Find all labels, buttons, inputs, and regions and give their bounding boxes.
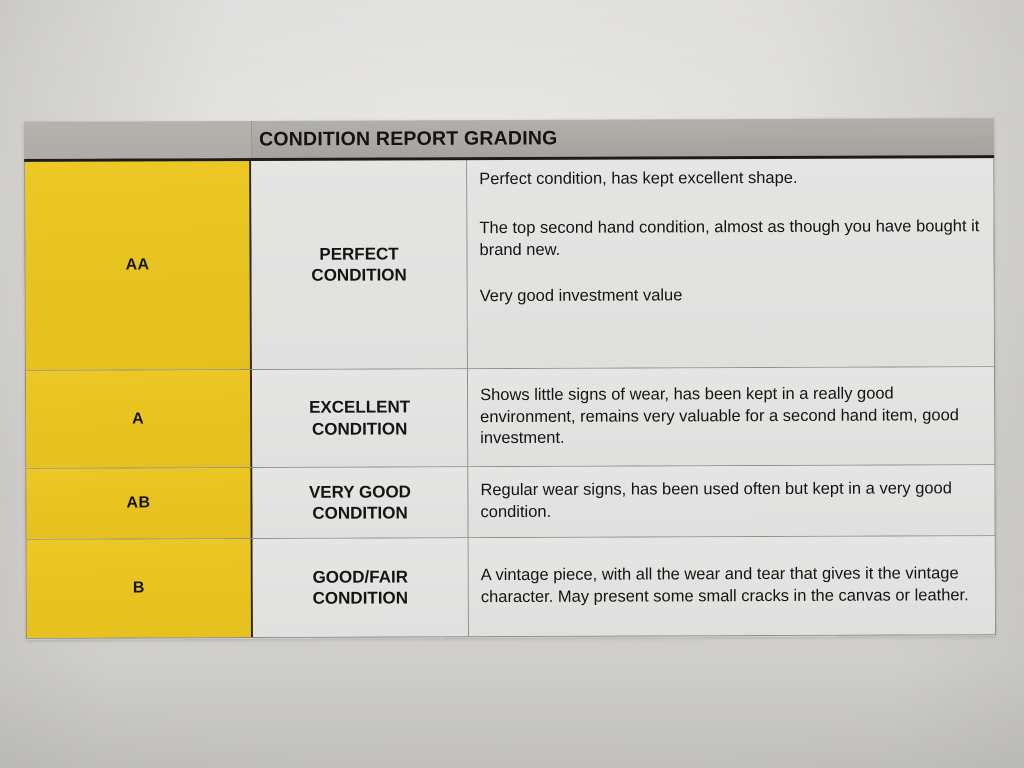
grade-code-cell: B: [27, 539, 253, 638]
grade-label-line1: VERY GOOD: [309, 482, 411, 501]
grade-label-line2: CONDITION: [313, 588, 408, 607]
grade-label-cell: VERY GOOD CONDITION: [252, 467, 468, 538]
grade-description-paragraph: Shows little signs of wear, has been kep…: [480, 383, 980, 451]
grade-description-paragraph: A vintage piece, with all the wear and t…: [481, 563, 981, 609]
table-body: AA PERFECT CONDITION Perfect condition, …: [24, 158, 996, 639]
table-header-left-block: [24, 121, 252, 159]
grade-description-paragraph: Perfect condition, has kept excellent sh…: [479, 167, 979, 191]
grade-label-line1: PERFECT: [319, 244, 398, 263]
table-row: B GOOD/FAIR CONDITION A vintage piece, w…: [27, 536, 995, 638]
grade-label-cell: EXCELLENT CONDITION: [252, 369, 468, 467]
condition-grading-table: CONDITION REPORT GRADING AA PERFECT COND…: [24, 118, 996, 640]
table-header: CONDITION REPORT GRADING: [24, 118, 994, 162]
grade-description-paragraph: The top second hand condition, almost as…: [479, 216, 979, 262]
grade-description-cell: Shows little signs of wear, has been kep…: [468, 367, 994, 466]
grade-label-line1: EXCELLENT: [309, 398, 410, 417]
grade-description-paragraph: Very good investment value: [480, 284, 980, 308]
grade-label-cell: PERFECT CONDITION: [251, 160, 468, 369]
grade-code-cell: A: [26, 370, 252, 468]
grade-description-paragraph: Regular wear signs, has been used often …: [480, 478, 980, 524]
grade-description-cell: A vintage piece, with all the wear and t…: [469, 536, 995, 636]
table-row: A EXCELLENT CONDITION Shows little signs…: [26, 367, 994, 469]
table-row: AB VERY GOOD CONDITION Regular wear sign…: [26, 465, 994, 540]
grade-label-line2: CONDITION: [311, 265, 406, 284]
grade-code-cell: AA: [25, 161, 252, 370]
grade-description-cell: Regular wear signs, has been used often …: [468, 465, 994, 537]
grade-label-line2: CONDITION: [312, 419, 407, 438]
grade-label-line2: CONDITION: [312, 503, 407, 522]
grade-label-cell: GOOD/FAIR CONDITION: [253, 538, 469, 637]
page-title: CONDITION REPORT GRADING: [259, 127, 557, 151]
grade-description-cell: Perfect condition, has kept excellent sh…: [467, 158, 994, 368]
grade-label-line1: GOOD/FAIR: [313, 567, 408, 586]
grade-code-cell: AB: [26, 468, 252, 539]
table-row: AA PERFECT CONDITION Perfect condition, …: [25, 158, 994, 371]
